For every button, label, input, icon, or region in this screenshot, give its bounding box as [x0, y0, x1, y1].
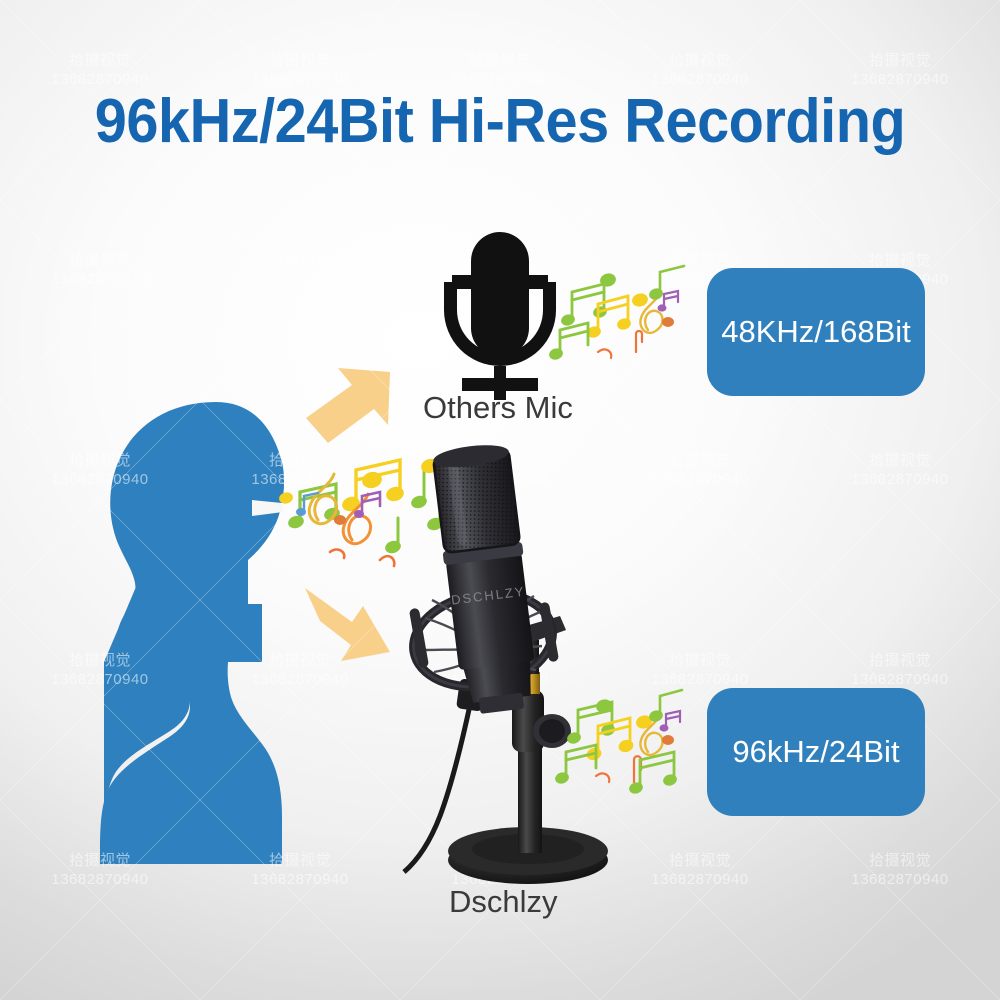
- badge-dschlzy-spec: 96kHz/24Bit: [707, 688, 925, 816]
- page-title: 96kHz/24Bit Hi-Res Recording: [35, 86, 965, 157]
- caption-others-mic: Others Mic: [423, 390, 573, 426]
- badge-dschlzy-spec-label: 96kHz/24Bit: [732, 734, 899, 770]
- caption-dschlzy: Dschlzy: [449, 884, 558, 920]
- badge-others-spec-label: 48KHz/168Bit: [721, 314, 911, 350]
- badge-others-spec: 48KHz/168Bit: [707, 268, 925, 396]
- infographic-canvas: 拾摄视觉13682870940拾摄视觉13682870940拾摄视觉136828…: [0, 0, 1000, 1000]
